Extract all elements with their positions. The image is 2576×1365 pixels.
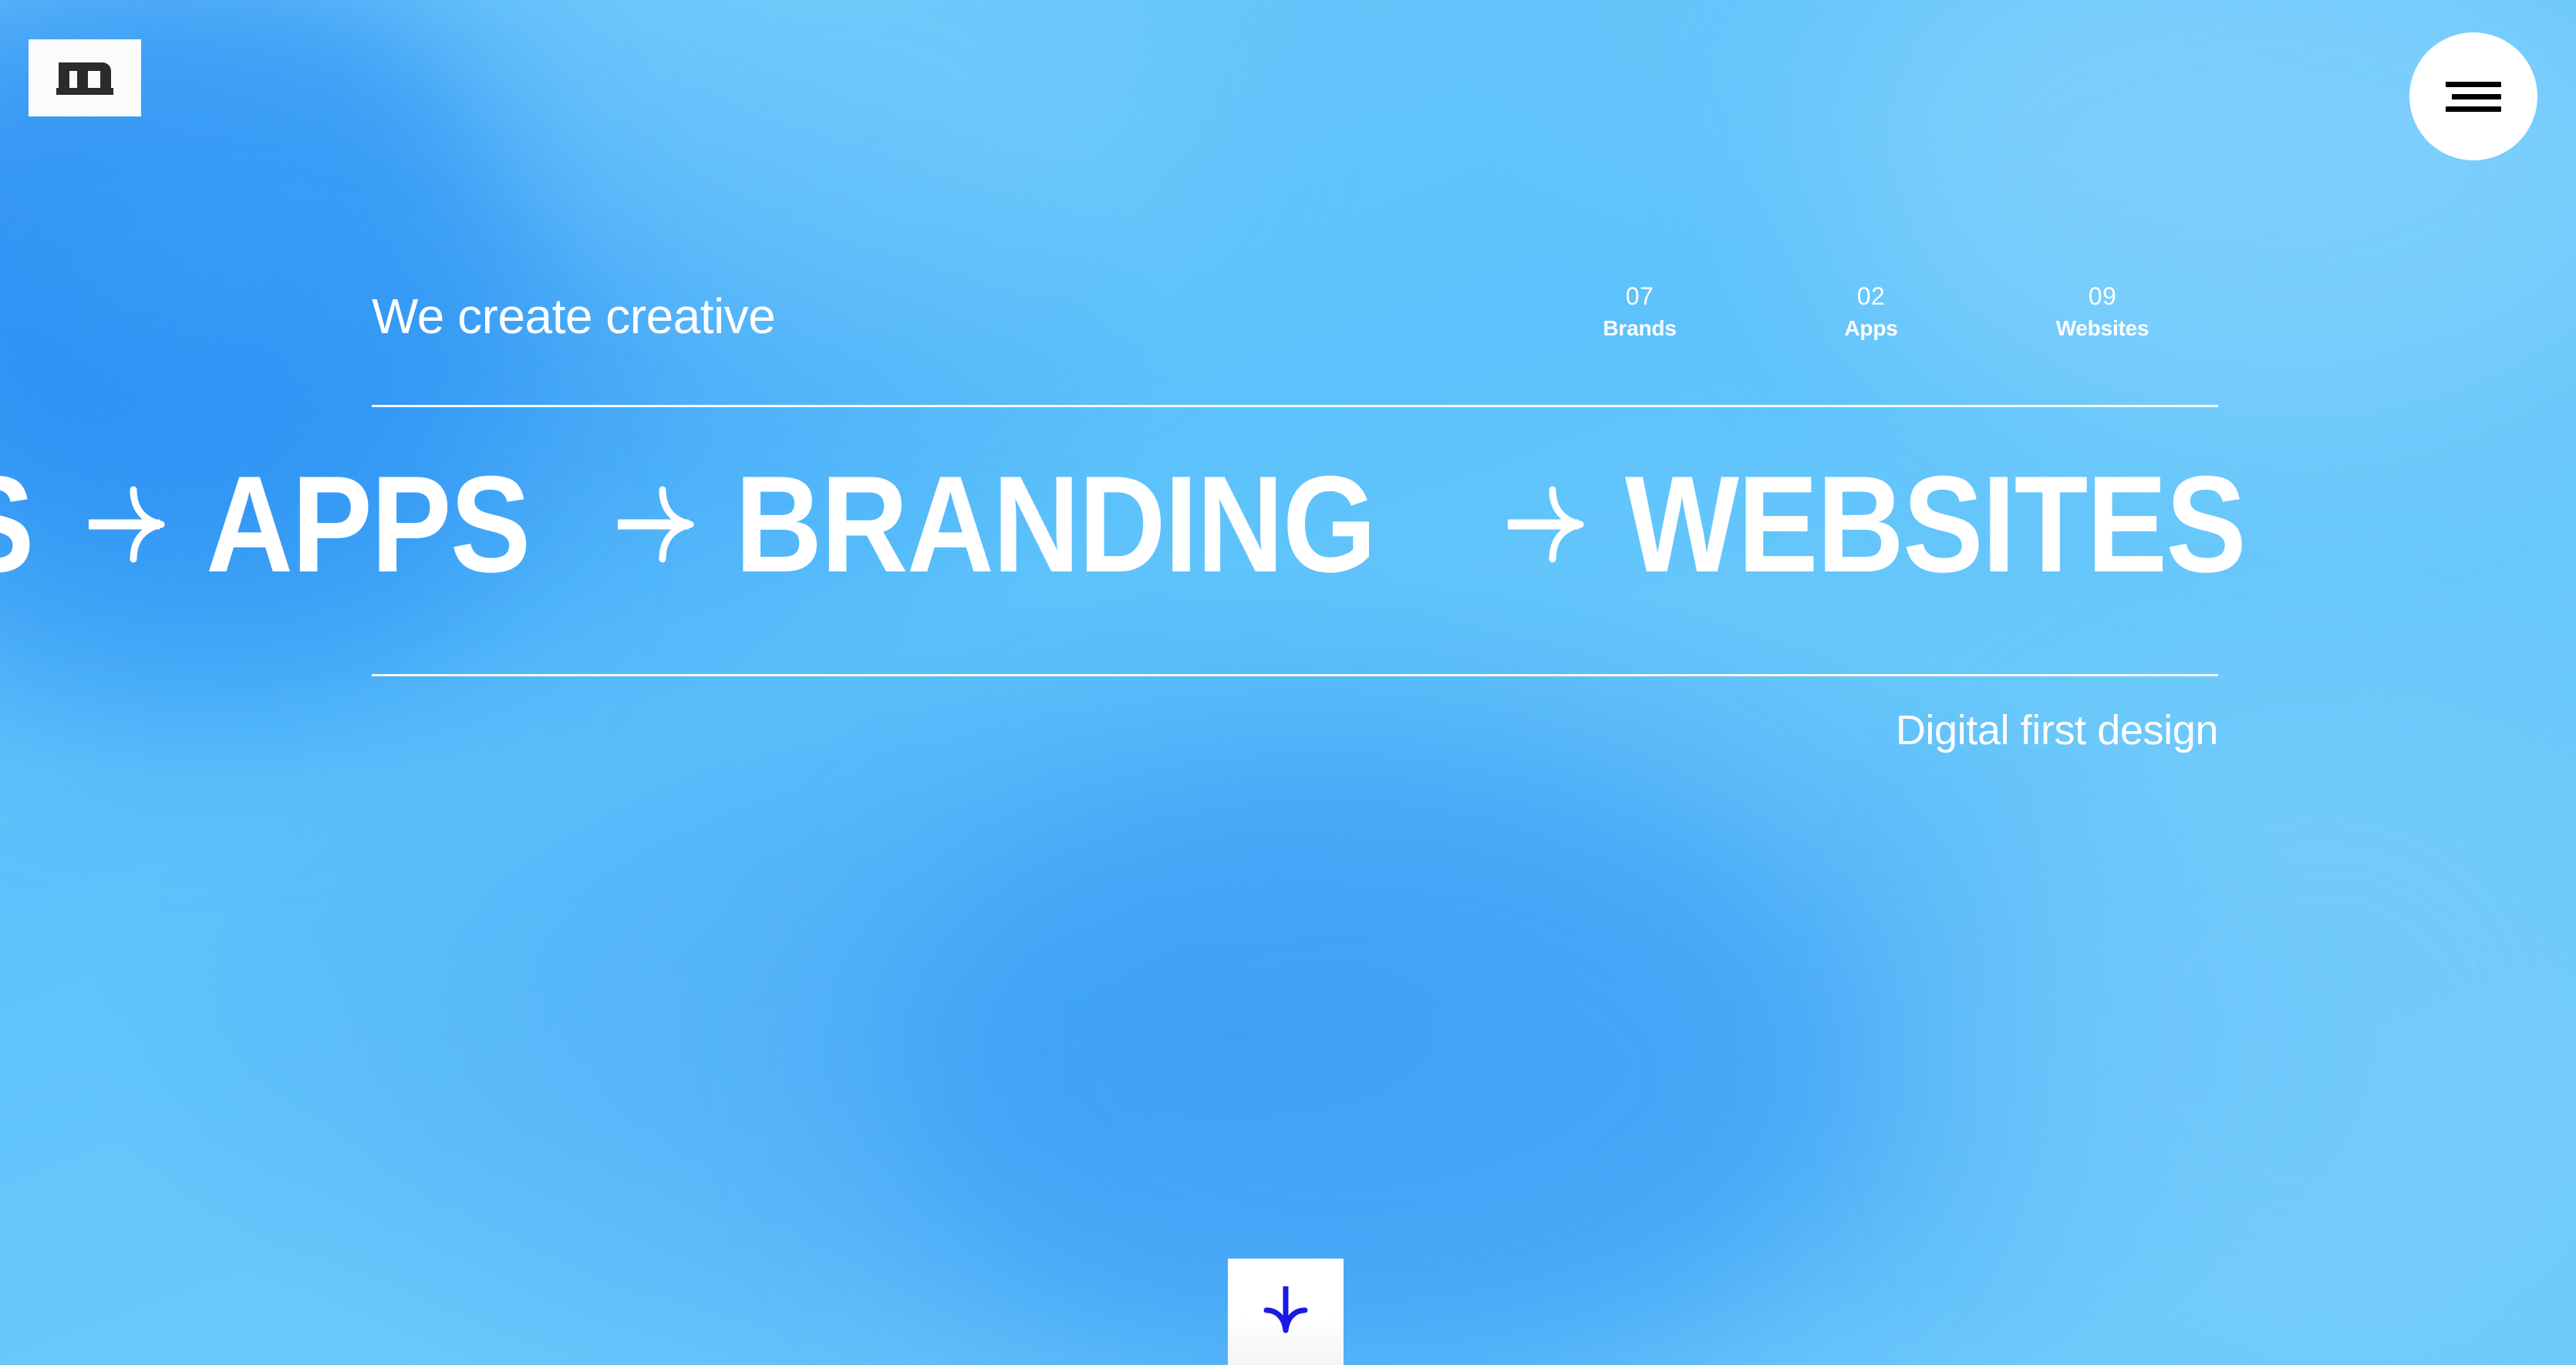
- divider-top: [372, 405, 2218, 407]
- hero-top-row: We create creative 07 Brands 02 Apps 09 …: [372, 284, 2218, 341]
- marquee-band: SAPPSBRANDINGWEBSITES: [0, 443, 2576, 605]
- scroll-down-button[interactable]: [1228, 1259, 1344, 1365]
- stat-item-brands: 07 Brands: [1524, 284, 1755, 341]
- stat-number: 07: [1524, 284, 1755, 310]
- marquee-word: BRANDING: [735, 456, 1375, 593]
- stat-number: 02: [1755, 284, 1987, 310]
- hero-content: We create creative 07 Brands 02 Apps 09 …: [0, 0, 2576, 1365]
- hero-tagline: We create creative: [372, 292, 775, 341]
- marquee-word: WEBSITES: [1625, 456, 2245, 593]
- marquee-track: SAPPSBRANDINGWEBSITES: [0, 456, 2329, 593]
- menu-button[interactable]: [2409, 32, 2537, 160]
- arrow-right-icon: [609, 479, 700, 570]
- arrow-right-icon: [79, 479, 170, 570]
- stat-label: Websites: [1987, 315, 2218, 342]
- arrow-down-icon: [1261, 1285, 1310, 1339]
- stats-group: 07 Brands 02 Apps 09 Websites: [1524, 284, 2218, 341]
- stat-item-websites: 09 Websites: [1987, 284, 2218, 341]
- arrow-right-icon: [1499, 479, 1590, 570]
- stat-label: Brands: [1524, 315, 1755, 342]
- m-monogram-logo-icon: [56, 60, 113, 96]
- hero-section: We create creative 07 Brands 02 Apps 09 …: [0, 0, 2576, 1365]
- stat-item-apps: 02 Apps: [1755, 284, 1987, 341]
- site-logo[interactable]: [29, 39, 141, 116]
- hamburger-menu-icon: [2446, 82, 2501, 112]
- marquee-word: S: [0, 456, 33, 593]
- stat-number: 09: [1987, 284, 2218, 310]
- stat-label: Apps: [1755, 315, 1987, 342]
- marquee-word: APPS: [206, 456, 530, 593]
- hero-subtitle: Digital first design: [372, 709, 2218, 751]
- divider-bottom: [372, 674, 2218, 676]
